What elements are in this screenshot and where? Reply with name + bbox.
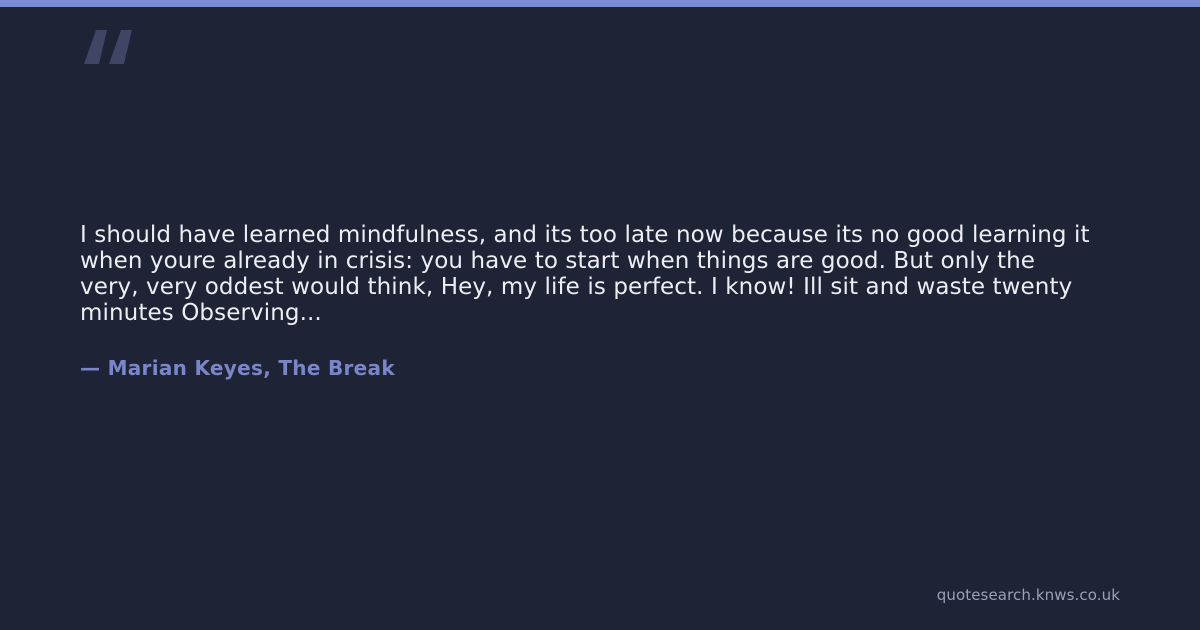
open-quote-icon — [80, 18, 150, 88]
quote-block: I should have learned mindfulness, and i… — [80, 222, 1100, 381]
source-url: quotesearch.knws.co.uk — [937, 586, 1120, 604]
top-accent-rule — [0, 0, 1200, 7]
quote-text: I should have learned mindfulness, and i… — [80, 222, 1100, 326]
quote-attribution: — Marian Keyes, The Break — [80, 326, 1100, 381]
quote-card: I should have learned mindfulness, and i… — [0, 0, 1200, 630]
